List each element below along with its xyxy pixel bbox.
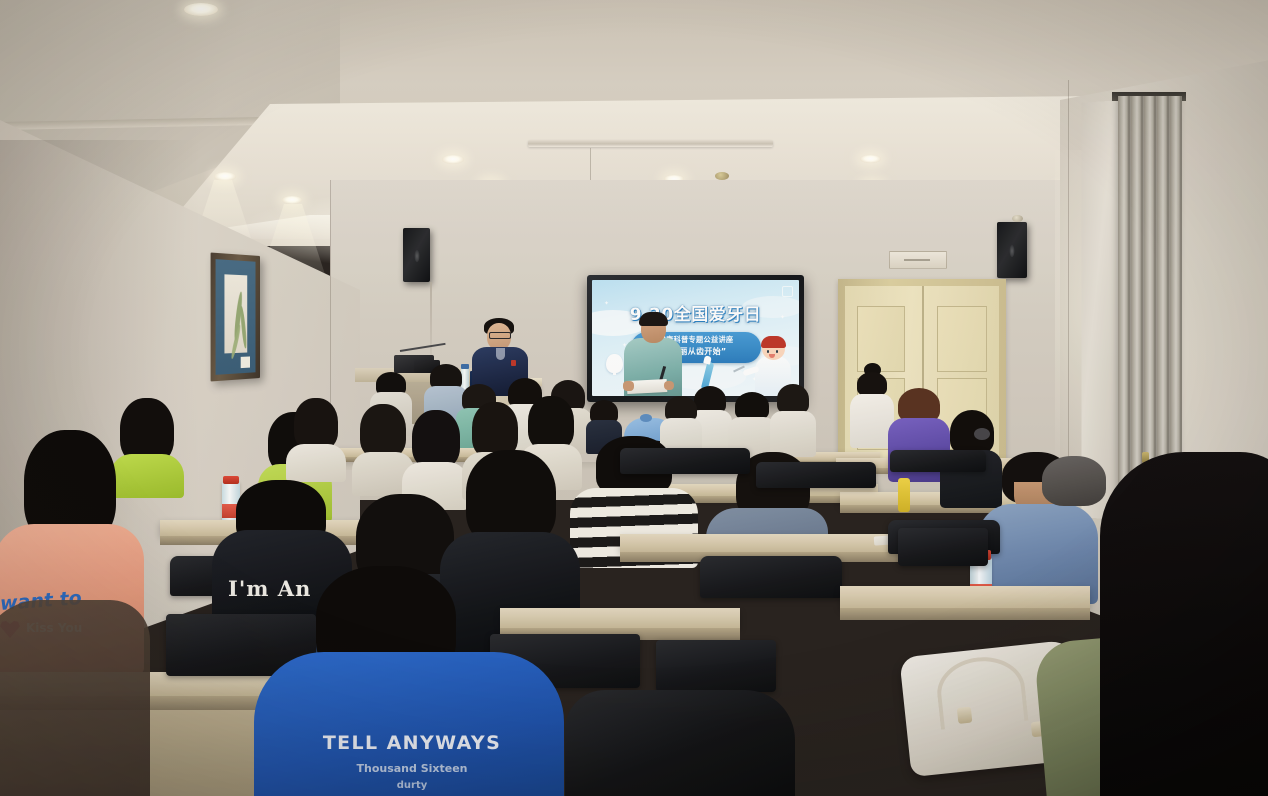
smoke-detector-wall bbox=[1012, 215, 1023, 222]
presenter-hair bbox=[639, 312, 668, 326]
desk-mid-center bbox=[620, 534, 910, 552]
hair bbox=[360, 404, 406, 458]
bag-handle bbox=[934, 653, 1029, 730]
presentation-display: ✦ ✦ ✦ ✦ 9.20全国爱牙日 健康科普专题公益讲座 “美丽从齿开始” bbox=[587, 275, 804, 402]
hair-tie bbox=[974, 428, 990, 440]
picture-caption-label bbox=[241, 356, 250, 368]
person-blue-print-shirt: TELL ANYWAYS Thousand Sixteen durty bbox=[254, 612, 564, 796]
chair-back-1 bbox=[620, 448, 750, 474]
door-panel-3 bbox=[937, 306, 987, 372]
smoke-detector-ceiling bbox=[715, 172, 729, 180]
slide-corner-icon bbox=[782, 286, 793, 297]
hair bbox=[898, 388, 940, 422]
hair bbox=[857, 372, 887, 396]
torso bbox=[770, 411, 816, 457]
slide-title: 9.20全国爱牙日 bbox=[592, 300, 799, 325]
person-left-3 bbox=[286, 398, 346, 478]
host-chest-logo bbox=[511, 360, 516, 366]
speaker-cone-left bbox=[414, 250, 419, 262]
door-sign-text-line bbox=[904, 259, 930, 261]
ceiling-vent-upper bbox=[528, 140, 773, 147]
chair-back-3 bbox=[890, 450, 986, 472]
chair-front-center-2 bbox=[656, 640, 776, 692]
downlight-2 bbox=[442, 155, 464, 164]
photo-scene: ✦ ✦ ✦ ✦ 9.20全国爱牙日 健康科普专题公益讲座 “美丽从齿开始” bbox=[0, 0, 1268, 796]
chair-mid-1 bbox=[700, 556, 842, 598]
chair-front-right bbox=[898, 528, 988, 566]
slide-canvas: ✦ ✦ ✦ ✦ 9.20全国爱牙日 健康科普专题公益讲座 “美丽从齿开始” bbox=[592, 280, 799, 396]
downlight-1 bbox=[184, 3, 218, 16]
desk-front-right-edge bbox=[840, 608, 1090, 620]
hair bbox=[528, 396, 574, 450]
bag-clasp-left bbox=[957, 707, 973, 724]
downlight-10 bbox=[214, 172, 236, 181]
hair bbox=[777, 384, 809, 414]
door-panel-1 bbox=[857, 306, 905, 372]
downlight-6 bbox=[860, 155, 881, 163]
presenter-hand-right bbox=[664, 381, 674, 390]
blue-shirt-text-line3: durty bbox=[272, 780, 552, 791]
hair bbox=[294, 398, 338, 450]
hair-grey bbox=[1042, 456, 1106, 506]
leaf-stem-2 bbox=[240, 306, 248, 349]
chair-back-2 bbox=[756, 462, 876, 488]
picture-paper bbox=[224, 274, 247, 353]
framed-botanical-print bbox=[211, 252, 260, 381]
speaker-cone-right bbox=[1010, 245, 1015, 257]
black-shirt-text: I'm An bbox=[228, 576, 311, 601]
downlight-11 bbox=[282, 196, 302, 204]
wall-speaker-right bbox=[997, 222, 1027, 278]
wall-corner-right bbox=[1068, 80, 1069, 500]
wall-speaker-left bbox=[403, 228, 430, 282]
desk-front-right bbox=[840, 586, 1090, 608]
dentist-character-hair bbox=[761, 336, 786, 348]
torso bbox=[286, 444, 346, 482]
hair-long bbox=[1100, 452, 1268, 796]
person-foreground-left-shoulder bbox=[0, 600, 150, 796]
host-glasses bbox=[489, 332, 511, 339]
cap-button bbox=[640, 414, 652, 422]
blue-shirt-text-line1: TELL ANYWAYS bbox=[272, 732, 552, 754]
host-collar bbox=[496, 348, 505, 360]
person-back-8 bbox=[770, 384, 816, 454]
dentist-eye-right bbox=[776, 350, 779, 354]
hair bbox=[735, 392, 769, 420]
blue-shirt-text-line2: Thousand Sixteen bbox=[272, 762, 552, 775]
cartoon-tooth-large bbox=[606, 354, 623, 373]
dentist-eye-left bbox=[767, 350, 770, 354]
yellow-item-on-chair bbox=[898, 478, 910, 512]
presenter-hand-left bbox=[623, 381, 634, 391]
torso-blue-print-shirt: TELL ANYWAYS Thousand Sixteen durty bbox=[254, 652, 564, 796]
door-sign-plate bbox=[889, 251, 947, 269]
picture-mat bbox=[216, 259, 256, 375]
black-jacket-on-desk bbox=[565, 690, 795, 796]
person-foreground-right bbox=[1100, 452, 1268, 796]
